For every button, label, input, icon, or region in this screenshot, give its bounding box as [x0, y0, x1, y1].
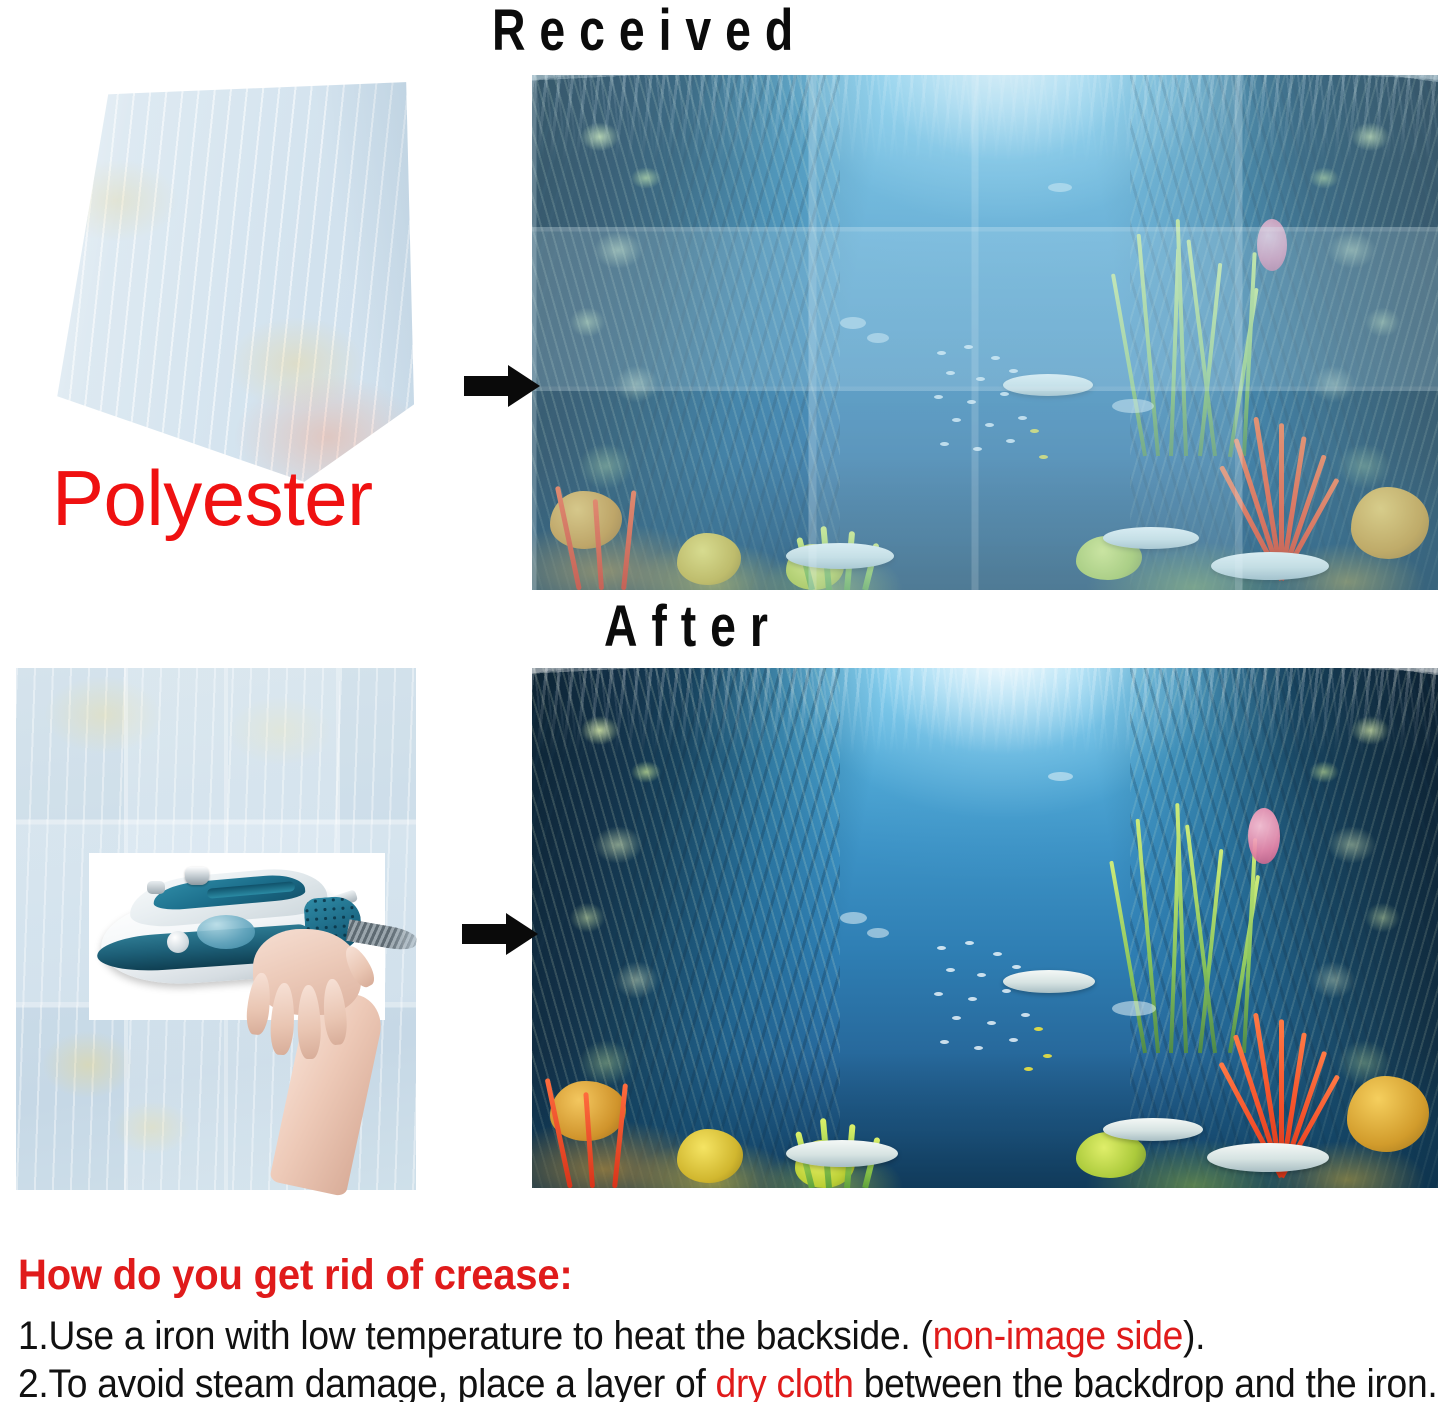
- received-heading: Received: [492, 2, 807, 60]
- pink-coral: [1257, 219, 1287, 271]
- steam-iron-photo: [89, 853, 385, 1020]
- infographic-page: Received Polyester: [0, 0, 1438, 1402]
- fish-school: [931, 938, 1087, 1072]
- instruction-line-2: 2.To avoid steam damage, place a layer o…: [18, 1362, 1324, 1402]
- instruction-1-text-a: 1.Use a iron with low temperature to hea…: [18, 1314, 933, 1358]
- polyester-material-label: Polyester: [52, 459, 373, 537]
- right-arrow-icon: [462, 913, 540, 955]
- iron-steam-knob: [185, 867, 209, 885]
- coral-shelf: [1103, 1118, 1203, 1141]
- instruction-2-text-b: between the backdrop and the iron.: [854, 1362, 1438, 1402]
- polyester-fabric-swatch: [22, 78, 414, 486]
- fish-school: [931, 343, 1081, 473]
- instruction-2-text-a: 2.To avoid steam damage, place a layer o…: [18, 1362, 716, 1402]
- instruction-line-1: 1.Use a iron with low temperature to hea…: [18, 1314, 1324, 1358]
- iron-spray-button: [147, 881, 165, 894]
- fish: [867, 333, 889, 343]
- coral-shelf: [1211, 552, 1329, 580]
- instruction-1-highlight: non-image side: [933, 1314, 1183, 1358]
- reef-scene: [532, 75, 1438, 590]
- pink-coral: [1248, 808, 1280, 864]
- yellow-sponge: [1347, 1076, 1429, 1152]
- after-heading: After: [604, 598, 782, 656]
- instruction-1-text-b: ).: [1183, 1314, 1205, 1358]
- fabric-shading: [22, 78, 414, 486]
- arrow-shaft: [462, 924, 508, 944]
- instructions-title: How do you get rid of crease:: [18, 1253, 1324, 1298]
- coral-shelf: [1103, 527, 1199, 549]
- iron-temperature-dial: [167, 931, 189, 953]
- hand: [243, 929, 433, 1189]
- instruction-2-highlight: dry cloth: [716, 1362, 854, 1402]
- reef-scene: [532, 668, 1438, 1188]
- arrow-head: [506, 913, 538, 955]
- red-whip-coral: [568, 477, 659, 590]
- right-arrow-icon: [464, 365, 542, 407]
- arrow-shaft: [464, 376, 510, 396]
- after-backdrop-photo: [532, 668, 1438, 1188]
- red-whip-coral: [559, 1068, 650, 1188]
- care-instructions: How do you get rid of crease: 1.Use a ir…: [18, 1253, 1422, 1402]
- fish: [840, 317, 866, 329]
- received-backdrop-photo: [532, 75, 1438, 590]
- coral-shelf: [786, 1140, 898, 1167]
- arrow-head: [508, 365, 540, 407]
- fish: [1112, 1001, 1156, 1016]
